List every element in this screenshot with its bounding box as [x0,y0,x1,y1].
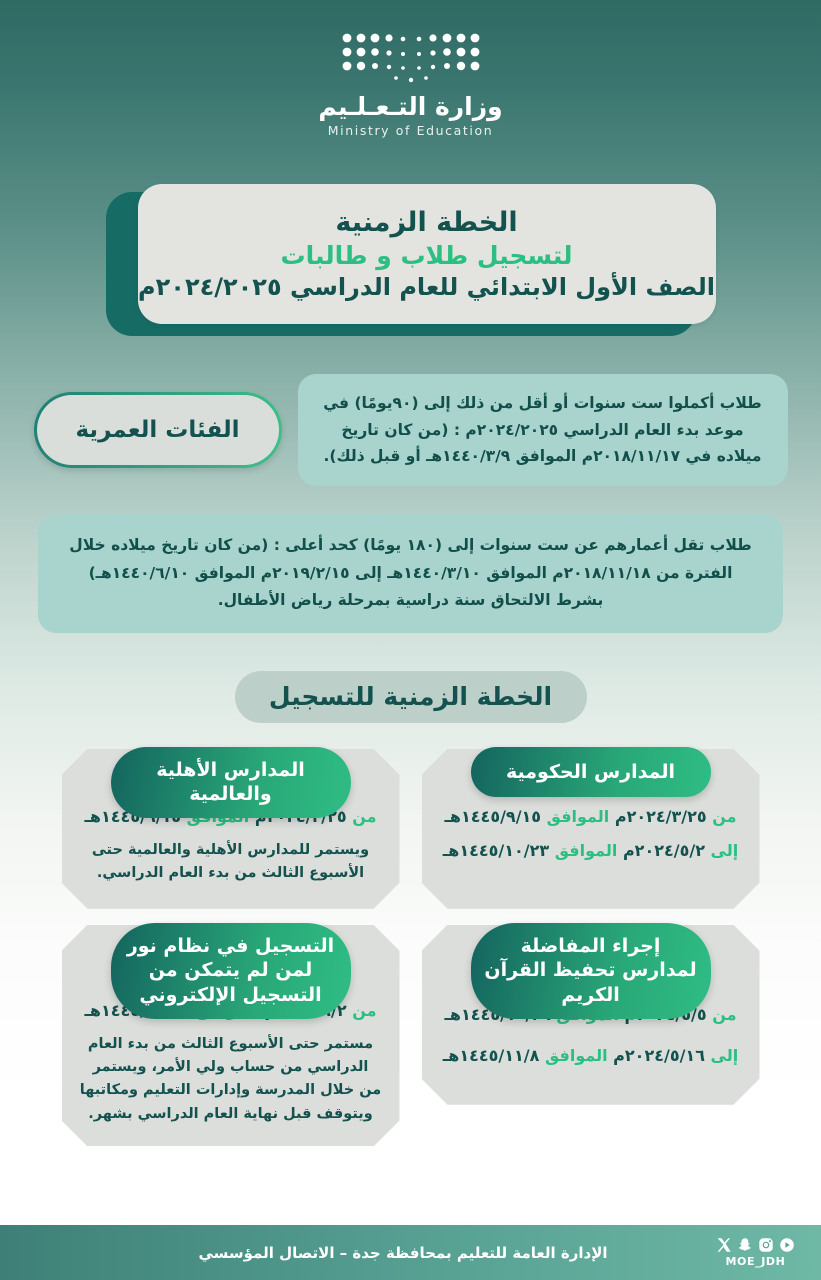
card-quran-title: إجراء المفاضلة لمدارس تحفيظ القرآن الكري… [471,923,711,1019]
card-government-to: إلى ٢٠٢٤/٥/٢م الموافق ١٤٤٥/١٠/٢٣هـ [440,839,742,864]
page-footer: MOE_JDH الإدارة العامة للتعليم بمحافظة ج… [0,1225,821,1280]
social-icon-row [716,1237,795,1253]
youtube-icon[interactable] [779,1237,795,1253]
from-keyword: من [712,1005,736,1024]
title-card-body: الخطة الزمنية لتسجيل طلاب و طالبات الصف … [138,184,716,324]
timeline-card-grid: المدارس الحكومية من ٢٠٢٤/٣/٢٥م الموافق ١… [0,749,821,1147]
snapchat-icon[interactable] [737,1237,753,1253]
moe-dot-matrix-logo [337,30,485,88]
card-private-title: المدارس الأهلية والعالمية [111,747,351,818]
to-separator: الموافق [545,1046,608,1065]
to-hijri: ١٤٤٥/١٠/٢٣هـ [443,841,549,860]
card-quran-schools: إجراء المفاضلة لمدارس تحفيظ القرآن الكري… [422,925,760,1147]
title-line-1: الخطة الزمنية [335,207,517,238]
card-noor-system: التسجيل في نظام نور لمن لم يتمكن من التس… [62,925,400,1147]
from-keyword: من [352,807,376,826]
card-private-schools: المدارس الأهلية والعالمية من ٢٠٢٤/٣/٢٥م … [62,749,400,909]
from-separator: الموافق [547,807,610,826]
from-keyword: من [712,807,736,826]
from-keyword: من [352,1001,376,1020]
from-gregorian: ٢٠٢٤/٣/٢٥م [615,807,707,826]
card-quran-to: إلى ٢٠٢٤/٥/١٦م الموافق ١٤٤٥/١١/٨هـ [440,1044,742,1069]
card-noor-note: مستمر حتى الأسبوع الثالث من بدء العام ال… [80,1033,382,1127]
to-gregorian: ٢٠٢٤/٥/١٦م [613,1046,705,1065]
to-keyword: إلى [711,841,739,860]
to-separator: الموافق [555,841,618,860]
ministry-name-ar: وزارة التـعـلـيم [318,94,502,119]
footer-department-text: الإدارة العامة للتعليم بمحافظة جدة – الا… [0,1244,716,1262]
title-line-3: الصف الأول الابتدائي للعام الدراسي ٢٠٢٤/… [138,273,715,301]
age-categories-label: الفئات العمرية [75,417,239,443]
card-government-schools: المدارس الحكومية من ٢٠٢٤/٣/٢٥م الموافق ١… [422,749,760,909]
from-hijri: ١٤٤٥/٩/١٥هـ [444,807,541,826]
registration-plan-heading-label: الخطة الزمنية للتسجيل [269,682,552,711]
title-line-2: لتسجيل طلاب و طالبات [281,241,573,270]
age-criteria-2: طلاب تقل أعمارهم عن ست سنوات إلى (١٨٠ يو… [38,514,783,633]
x-icon[interactable] [716,1237,732,1253]
card-private-note: ويستمر للمدارس الأهلية والعالمية حتى الأ… [80,839,382,886]
card-government-from: من ٢٠٢٤/٣/٢٥م الموافق ١٤٤٥/٩/١٥هـ [440,805,742,830]
age-categories-badge: الفئات العمرية [34,392,282,468]
page-header: وزارة التـعـلـيم Ministry of Education [0,0,821,168]
age-criteria-1: طلاب أكملوا ست سنوات أو أقل من ذلك إلى (… [298,374,788,486]
footer-social-block: MOE_JDH [716,1237,795,1268]
to-hijri: ١٤٤٥/١١/٨هـ [443,1046,540,1065]
ministry-name-en: Ministry of Education [328,125,493,138]
footer-handle: MOE_JDH [726,1255,786,1268]
to-keyword: إلى [711,1046,739,1065]
card-noor-title: التسجيل في نظام نور لمن لم يتمكن من التس… [111,923,351,1019]
to-gregorian: ٢٠٢٤/٥/٢م [623,841,705,860]
card-government-title: المدارس الحكومية [471,747,711,798]
instagram-icon[interactable] [758,1237,774,1253]
registration-plan-heading: الخطة الزمنية للتسجيل [235,671,587,723]
title-card: الخطة الزمنية لتسجيل طلاب و طالبات الصف … [106,184,716,336]
age-criteria-row: طلاب أكملوا ست سنوات أو أقل من ذلك إلى (… [0,374,821,486]
